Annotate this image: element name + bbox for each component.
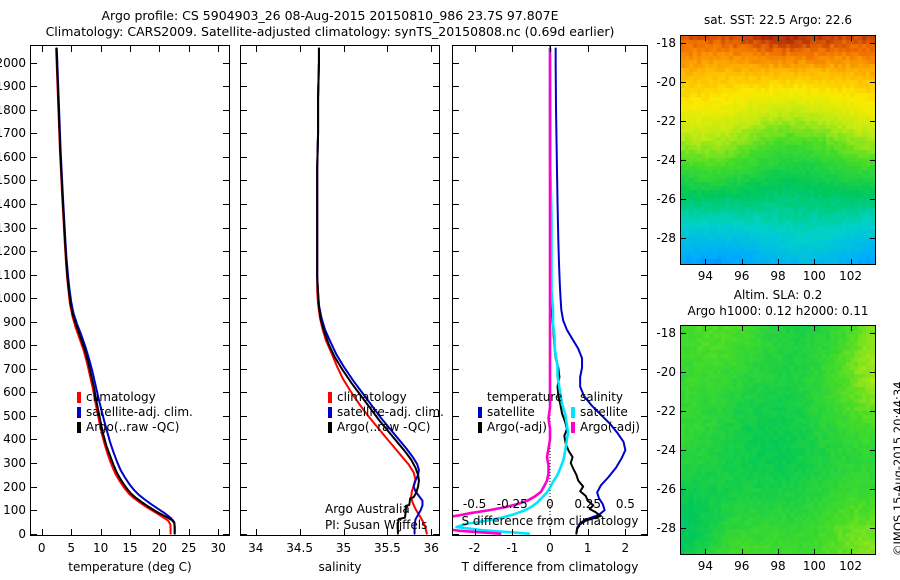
y-tick [433,369,439,370]
map-x-tick [705,259,706,264]
y-tick [453,298,459,299]
legend-label: satellite-adj. clim. [337,405,444,420]
y-tick [31,110,37,111]
legend-item: Argo(..raw -QC) [77,420,193,435]
y-tick [241,392,247,393]
map-y-tick [681,333,686,334]
y-tick [641,345,647,346]
y-tick [223,534,229,535]
map-y-tick-label: -28 [638,232,676,244]
y-tick [223,510,229,511]
y-tick [241,110,247,111]
y-tick [433,251,439,252]
map-sst-title: sat. SST: 22.5 Argo: 22.6 [680,14,876,26]
x-tick [71,529,72,535]
map-x-tick [778,326,779,331]
y-tick [453,228,459,229]
y-tick [453,487,459,488]
series-temperature-argo-adj- [550,49,601,534]
legend-label: Argo(-adj) [487,420,547,435]
title-line-2: Climatology: CARS2009. Satellite-adjuste… [0,26,660,38]
legend-item: climatology [328,390,444,405]
y-tick [241,439,247,440]
series-climatology [56,49,170,534]
map-sla-subtitle: Argo h1000: 0.12 h2000: 0.11 [664,305,892,317]
legend-label: climatology [86,390,156,405]
y-tick [223,298,229,299]
y-tick-label: 2000 [0,57,26,69]
legend-label: satellite [580,405,628,420]
map-y-tick [681,121,686,122]
legend-item: satellite [571,405,640,420]
y-tick [433,86,439,87]
map-y-tick [870,372,875,373]
y-tick [223,133,229,134]
map-x-tick [778,549,779,554]
y-tick [433,63,439,64]
y-tick [241,86,247,87]
y-tick [453,275,459,276]
map-x-tick [814,259,815,264]
panel-temperature[interactable] [30,45,230,536]
y-tick [433,322,439,323]
y-tick [223,180,229,181]
legend-swatch [571,407,575,418]
map-y-tick-label: -22 [638,405,676,417]
panel-annotation: PI: Susan Wijffels [325,519,427,531]
y-tick [223,228,229,229]
x-tick-label-secondary: 0.5 [595,498,655,510]
panel-annotation: Argo Australia [325,503,410,515]
y-tick [223,63,229,64]
y-tick-label: 900 [0,316,26,328]
map-y-tick [870,528,875,529]
y-tick [223,439,229,440]
legend-item: satellite-adj. clim. [77,405,193,420]
x-tick [588,529,589,535]
map-y-tick [870,238,875,239]
y-tick [453,110,459,111]
x-tick [256,46,257,52]
y-tick [241,251,247,252]
y-tick [223,157,229,158]
y-tick-label: 300 [0,457,26,469]
legend-salinity: climatologysatellite-adj. clim.Argo(..ra… [328,390,444,435]
y-tick [453,322,459,323]
y-tick [433,228,439,229]
y-tick [31,392,37,393]
y-tick [641,298,647,299]
y-tick [453,133,459,134]
y-tick [31,345,37,346]
y-tick [223,416,229,417]
x-tick [344,46,345,52]
map-y-tick-label: -24 [638,154,676,166]
map-x-tick [742,326,743,331]
y-tick [31,369,37,370]
x-tick [130,46,131,52]
x-tick [256,529,257,535]
map-y-tick [870,121,875,122]
map-x-tick [705,326,706,331]
x-tick [431,529,432,535]
x-tick [159,529,160,535]
map-y-tick [870,160,875,161]
y-tick [241,204,247,205]
map-x-tick [814,36,815,41]
panel-difference-xlabel-secondary: S difference from climatology [448,515,652,527]
legend-heading: salinity [571,390,640,405]
map-y-tick-label: -18 [638,37,676,49]
series-argo-raw-qc- [56,49,174,534]
legend-item: climatology [77,390,193,405]
sea-surface-temperature-canvas [681,36,875,264]
y-tick [31,463,37,464]
legend-swatch [328,407,332,418]
y-tick [223,204,229,205]
y-tick [433,298,439,299]
y-tick [31,487,37,488]
x-tick-label: 2 [595,542,655,554]
y-tick-label: 1300 [0,222,26,234]
series-temperature-satellite [556,49,626,534]
y-tick [223,322,229,323]
y-tick [641,439,647,440]
y-tick [453,204,459,205]
y-tick [641,392,647,393]
y-tick [433,157,439,158]
x-tick [431,46,432,52]
profile-curves-difference [453,46,647,535]
x-tick [218,529,219,535]
y-tick-label: 500 [0,410,26,422]
y-tick [223,345,229,346]
map-y-tick-label: -28 [638,522,676,534]
y-tick [241,180,247,181]
y-tick [641,534,647,535]
y-tick [241,369,247,370]
y-tick [641,180,647,181]
y-tick [433,275,439,276]
y-tick [433,204,439,205]
x-tick [512,529,513,535]
legend-label: Argo(-adj) [580,420,640,435]
y-tick [223,392,229,393]
y-tick [31,534,37,535]
map-x-tick [742,259,743,264]
y-tick [241,298,247,299]
x-tick [475,529,476,535]
legend-swatch [478,422,482,433]
map-y-tick [681,82,686,83]
legend-item: Argo(-adj) [478,420,562,435]
y-tick [453,180,459,181]
y-tick [31,251,37,252]
panel-salinity[interactable] [240,45,440,536]
x-tick [300,46,301,52]
y-tick [641,133,647,134]
map-sea-surface-temperature[interactable] [680,35,876,265]
map-y-tick-label: -26 [638,193,676,205]
y-tick [433,110,439,111]
y-tick [641,322,647,323]
y-tick [453,63,459,64]
x-tick [130,529,131,535]
map-x-tick [705,549,706,554]
legend-label: Argo(..raw -QC) [86,420,179,435]
legend-difference-group: salinitysatelliteArgo(-adj) [571,390,640,435]
y-tick-label: 1700 [0,127,26,139]
legend-heading: temperature [478,390,562,405]
map-y-tick [870,333,875,334]
y-tick [241,416,247,417]
y-tick [453,157,459,158]
map-y-tick-label: -22 [638,115,676,127]
y-tick [641,110,647,111]
map-y-tick [681,372,686,373]
y-tick [433,510,439,511]
y-tick [641,510,647,511]
legend-difference-group: temperaturesatelliteArgo(-adj) [478,390,562,435]
map-y-tick-label: -26 [638,483,676,495]
y-tick [433,463,439,464]
y-tick [31,439,37,440]
y-tick [31,416,37,417]
y-tick [453,345,459,346]
x-tick [550,46,551,52]
y-tick [31,322,37,323]
map-x-tick-label: 102 [826,270,876,282]
legend-swatch [77,392,81,403]
x-tick [550,529,551,535]
y-tick-label: 1000 [0,292,26,304]
x-tick [588,46,589,52]
map-y-tick [681,238,686,239]
map-y-tick [870,43,875,44]
y-tick [241,534,247,535]
map-y-tick [681,160,686,161]
map-x-tick [705,36,706,41]
x-tick [475,46,476,52]
x-tick [159,46,160,52]
map-y-tick-label: -24 [638,444,676,456]
map-y-tick [870,82,875,83]
map-sla-title: Altim. SLA: 0.2 [668,289,888,301]
x-tick [387,46,388,52]
map-x-tick [742,549,743,554]
series-salinity-argo-adj- [453,49,550,534]
y-tick [31,204,37,205]
y-tick [641,251,647,252]
y-tick-label: 1600 [0,151,26,163]
y-tick [241,510,247,511]
credit-text: ©IMOS 15-Aug-2015 20:44:34 [891,381,900,556]
map-x-tick [814,549,815,554]
legend-item: Argo(-adj) [571,420,640,435]
x-tick [512,46,513,52]
y-tick [31,298,37,299]
map-y-tick-label: -20 [638,76,676,88]
x-tick [42,529,43,535]
legend-swatch [478,407,482,418]
x-tick [625,529,626,535]
x-tick [300,529,301,535]
y-tick-label: 700 [0,363,26,375]
y-tick [453,86,459,87]
y-tick [223,487,229,488]
map-x-tick [851,549,852,554]
y-tick [241,463,247,464]
series-climatology [317,49,427,534]
y-tick [31,510,37,511]
y-tick [433,133,439,134]
map-y-tick [681,199,686,200]
y-tick [641,228,647,229]
map-y-tick [681,43,686,44]
legend-temperature: climatologysatellite-adj. clim.Argo(..ra… [77,390,193,435]
legend-swatch [328,392,332,403]
map-sea-level-anomaly[interactable] [680,325,876,555]
y-tick [641,463,647,464]
y-tick-label: 400 [0,433,26,445]
y-tick [453,251,459,252]
legend-swatch [571,422,575,433]
x-tick [42,46,43,52]
map-y-tick-label: -18 [638,327,676,339]
y-tick [241,228,247,229]
y-tick [641,63,647,64]
profile-curves-temperature [31,46,229,535]
y-tick [223,110,229,111]
series-satellite-adj-clim- [57,49,175,534]
map-y-tick [681,450,686,451]
x-tick [625,46,626,52]
x-tick [218,46,219,52]
legend-item: satellite [478,405,562,420]
map-y-tick [870,411,875,412]
y-tick [453,463,459,464]
map-x-tick [742,36,743,41]
legend-item: satellite-adj. clim. [328,405,444,420]
y-tick [31,180,37,181]
panel-difference[interactable] [452,45,648,536]
panel-temperature-xlabel: temperature (deg C) [30,561,230,573]
y-tick [223,463,229,464]
map-y-tick [870,489,875,490]
map-y-tick [870,199,875,200]
y-tick-label: 1200 [0,245,26,257]
legend-swatch [328,422,332,433]
panel-difference-xlabel: T difference from climatology [448,561,652,573]
y-tick [433,439,439,440]
y-tick [433,180,439,181]
y-tick [223,86,229,87]
argo-profile-figure: Argo profile: CS 5904903_26 08-Aug-2015 … [0,0,900,580]
legend-swatch [77,422,81,433]
map-x-tick [778,36,779,41]
y-tick-label: 1500 [0,174,26,186]
y-tick-label: 100 [0,504,26,516]
y-tick-label: 600 [0,386,26,398]
legend-label: satellite-adj. clim. [86,405,193,420]
title-line-1: Argo profile: CS 5904903_26 08-Aug-2015 … [0,10,660,22]
profile-curves-salinity [241,46,439,535]
y-tick [453,416,459,417]
map-x-tick-label: 102 [826,560,876,572]
y-tick [31,133,37,134]
x-tick [189,529,190,535]
y-tick [241,63,247,64]
legend-label: Argo(..raw -QC) [337,420,430,435]
map-y-tick [681,411,686,412]
y-tick [453,534,459,535]
y-tick-label: 1100 [0,269,26,281]
series-argo-raw-qc- [317,49,419,534]
y-tick [241,275,247,276]
map-x-tick [851,36,852,41]
panel-salinity-xlabel: salinity [240,561,440,573]
y-tick [241,322,247,323]
y-tick [31,275,37,276]
y-tick-label: 200 [0,481,26,493]
y-tick-label: 0 [0,528,26,540]
y-tick [31,157,37,158]
map-y-tick-label: -20 [638,366,676,378]
y-tick-label: 1800 [0,104,26,116]
y-tick [241,345,247,346]
y-tick-label: 1900 [0,80,26,92]
y-tick [433,345,439,346]
y-tick [453,439,459,440]
y-tick [31,86,37,87]
y-tick [241,157,247,158]
y-tick [31,228,37,229]
y-tick [641,275,647,276]
y-tick-label: 1400 [0,198,26,210]
y-tick [241,487,247,488]
map-x-tick [778,259,779,264]
x-tick [101,46,102,52]
map-x-tick [851,259,852,264]
y-tick [31,63,37,64]
x-tick [189,46,190,52]
sea-level-anomaly-canvas [681,326,875,554]
y-tick-label: 800 [0,339,26,351]
x-tick [71,46,72,52]
y-tick [453,369,459,370]
x-tick [101,529,102,535]
y-tick [453,392,459,393]
y-tick [433,534,439,535]
map-x-tick [814,326,815,331]
map-y-tick [870,450,875,451]
legend-item: Argo(..raw -QC) [328,420,444,435]
y-tick [223,275,229,276]
y-tick [223,251,229,252]
map-y-tick [681,489,686,490]
map-x-tick [851,326,852,331]
y-tick [223,369,229,370]
legend-label: satellite [487,405,535,420]
map-y-tick [681,528,686,529]
legend-label: climatology [337,390,407,405]
y-tick [241,133,247,134]
y-tick [433,487,439,488]
legend-swatch [77,407,81,418]
y-tick [453,510,459,511]
